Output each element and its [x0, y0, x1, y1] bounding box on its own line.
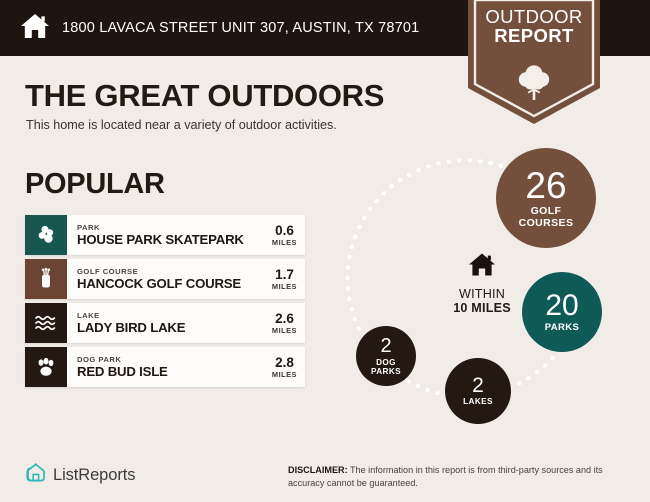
list-item-body: DOG PARK RED BUD ISLE 2.8 MILES — [67, 347, 305, 387]
page-title: THE GREAT OUTDOORS — [25, 78, 384, 114]
stat-label-line-1: DOG — [376, 358, 396, 367]
list-item-text: GOLF COURSE HANCOCK GOLF COURSE — [77, 268, 241, 291]
park-icon — [34, 223, 58, 247]
list-item-distance-value: 1.7 — [272, 268, 297, 282]
list-item-category: LAKE — [77, 312, 185, 320]
stat-count: 20 — [545, 291, 578, 321]
list-item-distance-value: 2.8 — [272, 356, 297, 370]
list-item-distance: 2.8 MILES — [268, 356, 297, 379]
stat-label: LAKES — [463, 398, 493, 406]
outdoor-report-page: 1800 LAVACA STREET UNIT 307, AUSTIN, TX … — [0, 0, 650, 502]
stat-count: 26 — [525, 167, 566, 204]
disclaimer-label: DISCLAIMER: — [288, 465, 348, 475]
property-address: 1800 LAVACA STREET UNIT 307, AUSTIN, TX … — [62, 20, 419, 36]
listreports-logo[interactable]: ListReports — [25, 462, 135, 488]
list-item-category: PARK — [77, 224, 244, 232]
listreports-logo-text: ListReports — [53, 466, 135, 485]
list-item-name: HOUSE PARK SKATEPARK — [77, 233, 244, 247]
infographic-center: WITHIN 10 MILES — [427, 252, 537, 315]
paw-icon — [34, 355, 58, 379]
stat-label-line-1: GOLF — [531, 205, 562, 217]
stat-circle-dog-parks: 2 DOG PARKS — [356, 326, 416, 386]
list-item-icon-tile — [25, 215, 67, 255]
stat-circle-golf-courses: 26 GOLF COURSES — [496, 148, 596, 248]
list-item-distance-value: 2.6 — [272, 312, 297, 326]
list-item-body: GOLF COURSE HANCOCK GOLF COURSE 1.7 MILE… — [67, 259, 305, 299]
page-subtitle: This home is located near a variety of o… — [26, 118, 337, 132]
stat-label-line-2: PARKS — [371, 367, 401, 376]
list-item[interactable]: LAKE LADY BIRD LAKE 2.6 MILES — [25, 303, 305, 343]
listreports-house-icon — [25, 462, 46, 488]
list-item-icon-tile — [25, 347, 67, 387]
list-item-icon-tile — [25, 259, 67, 299]
center-line-1: WITHIN — [427, 287, 537, 301]
list-item-name: LADY BIRD LAKE — [77, 321, 185, 335]
home-icon — [20, 12, 50, 45]
list-item-name: HANCOCK GOLF COURSE — [77, 277, 241, 291]
list-item-distance: 0.6 MILES — [268, 224, 297, 247]
list-item-text: PARK HOUSE PARK SKATEPARK — [77, 224, 244, 247]
list-item-category: DOG PARK — [77, 356, 168, 364]
list-item-text: DOG PARK RED BUD ISLE — [77, 356, 168, 379]
list-item-distance-unit: MILES — [272, 327, 297, 334]
list-item-distance: 2.6 MILES — [268, 312, 297, 335]
list-item[interactable]: DOG PARK RED BUD ISLE 2.8 MILES — [25, 347, 305, 387]
list-item-name: RED BUD ISLE — [77, 365, 168, 379]
list-item-distance-unit: MILES — [272, 283, 297, 290]
stat-label: DOG PARKS — [371, 358, 401, 376]
list-item-body: LAKE LADY BIRD LAKE 2.6 MILES — [67, 303, 305, 343]
list-item-text: LAKE LADY BIRD LAKE — [77, 312, 185, 335]
stat-label: GOLF COURSES — [519, 206, 574, 230]
list-item-distance-value: 0.6 — [272, 224, 297, 238]
outdoor-report-badge: OUTDOOR REPORT — [464, 0, 604, 126]
list-item-body: PARK HOUSE PARK SKATEPARK 0.6 MILES — [67, 215, 305, 255]
center-line-2: 10 MILES — [427, 301, 537, 315]
list-item[interactable]: PARK HOUSE PARK SKATEPARK 0.6 MILES — [25, 215, 305, 255]
popular-list: PARK HOUSE PARK SKATEPARK 0.6 MILES — [25, 215, 305, 391]
stat-label: PARKS — [545, 323, 580, 333]
stat-count: 2 — [380, 336, 391, 356]
stat-circle-lakes: 2 LAKES — [445, 358, 511, 424]
waves-icon — [33, 312, 59, 334]
list-item[interactable]: GOLF COURSE HANCOCK GOLF COURSE 1.7 MILE… — [25, 259, 305, 299]
section-heading-popular: POPULAR — [25, 168, 165, 201]
list-item-distance: 1.7 MILES — [268, 268, 297, 291]
within-10-miles-infographic: 26 GOLF COURSES 20 PARKS 2 DOG PARKS 2 L… — [320, 130, 650, 430]
list-item-category: GOLF COURSE — [77, 268, 241, 276]
stat-label-line-2: COURSES — [519, 217, 574, 229]
list-item-icon-tile — [25, 303, 67, 343]
disclaimer: DISCLAIMER: The information in this repo… — [288, 464, 636, 489]
list-item-distance-unit: MILES — [272, 239, 297, 246]
home-icon — [427, 252, 537, 282]
stat-count: 2 — [472, 375, 484, 396]
golf-bag-icon — [34, 267, 58, 291]
list-item-distance-unit: MILES — [272, 371, 297, 378]
